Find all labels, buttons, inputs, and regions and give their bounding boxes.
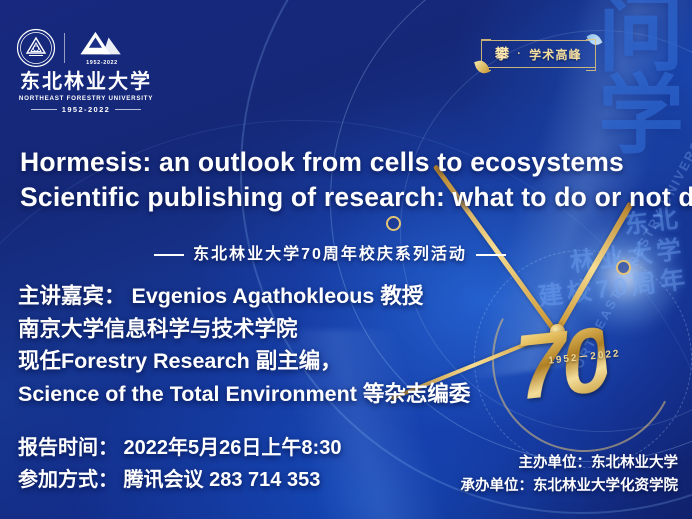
speaker-line-3: 现任Forestry Research 副主编，	[18, 345, 618, 378]
title-line-1: Hormesis: an outlook from cells to ecosy…	[20, 145, 680, 180]
university-crest-icon	[16, 28, 56, 68]
university-logo-block: 1952-2022 东北林业大学 NORTHEAST FORESTRY UNIV…	[16, 28, 156, 114]
calligraphy-char-1: 问	[598, 0, 684, 76]
calligraphy-decoration: 问 学	[598, 0, 684, 157]
speaker-line-4: Science of the Total Environment 等杂志编委	[18, 378, 618, 411]
mountain-shape-icon	[73, 29, 131, 59]
poster-title: Hormesis: an outlook from cells to ecosy…	[20, 145, 680, 215]
speaker-info-block: 主讲嘉宾： Evgenios Agathokleous 教授 南京大学信息科学与…	[18, 280, 618, 411]
university-name-en: NORTHEAST FORESTRY UNIVERSITY	[16, 95, 156, 102]
poster-subtitle: 东北林业大学70周年校庆系列活动	[20, 240, 640, 264]
subtitle-text: 东北林业大学70周年校庆系列活动	[193, 246, 467, 263]
meeting-time: 报告时间： 2022年5月26日上午8:30	[18, 432, 448, 464]
university-name-cn: 东北林业大学	[16, 71, 156, 93]
speaker-line-2: 南京大学信息科学与技术学院	[18, 313, 618, 346]
badge-char: 攀	[495, 44, 510, 64]
badge-leaf-gold-icon	[474, 58, 490, 75]
academic-peak-badge: 攀 · 学术高峰	[482, 40, 595, 68]
mountain-emblem-icon: 1952-2022	[73, 29, 131, 67]
subtitle-dash-right	[476, 254, 506, 256]
meeting-join-method: 参加方式： 腾讯会议 283 714 353	[18, 464, 448, 496]
badge-label: 学术高峰	[529, 46, 582, 63]
badge-dot: ·	[517, 48, 522, 60]
subtitle-dash-left	[154, 254, 184, 256]
organizing-unit: 承办单位：东北林业大学化资学院	[398, 475, 678, 498]
title-line-2: Scientific publishing of research: what …	[20, 180, 680, 215]
host-organization: 主办单位：东北林业大学	[398, 452, 678, 475]
event-poster: 东北 林业大学 建校70周年 NORTHEAST FORESTRY UNIVER…	[0, 0, 692, 519]
speaker-line-1: 主讲嘉宾： Evgenios Agathokleous 教授	[18, 280, 618, 313]
university-anniversary-years: 1952-2022	[16, 105, 156, 114]
meeting-info-block: 报告时间： 2022年5月26日上午8:30 参加方式： 腾讯会议 283 71…	[18, 432, 448, 497]
mountain-emblem-years: 1952-2022	[73, 60, 131, 66]
logo-row: 1952-2022	[16, 28, 156, 68]
organizer-info-block: 主办单位：东北林业大学 承办单位：东北林业大学化资学院	[398, 452, 678, 499]
logo-divider	[64, 33, 65, 63]
clock-hand-cap-1	[386, 216, 401, 231]
